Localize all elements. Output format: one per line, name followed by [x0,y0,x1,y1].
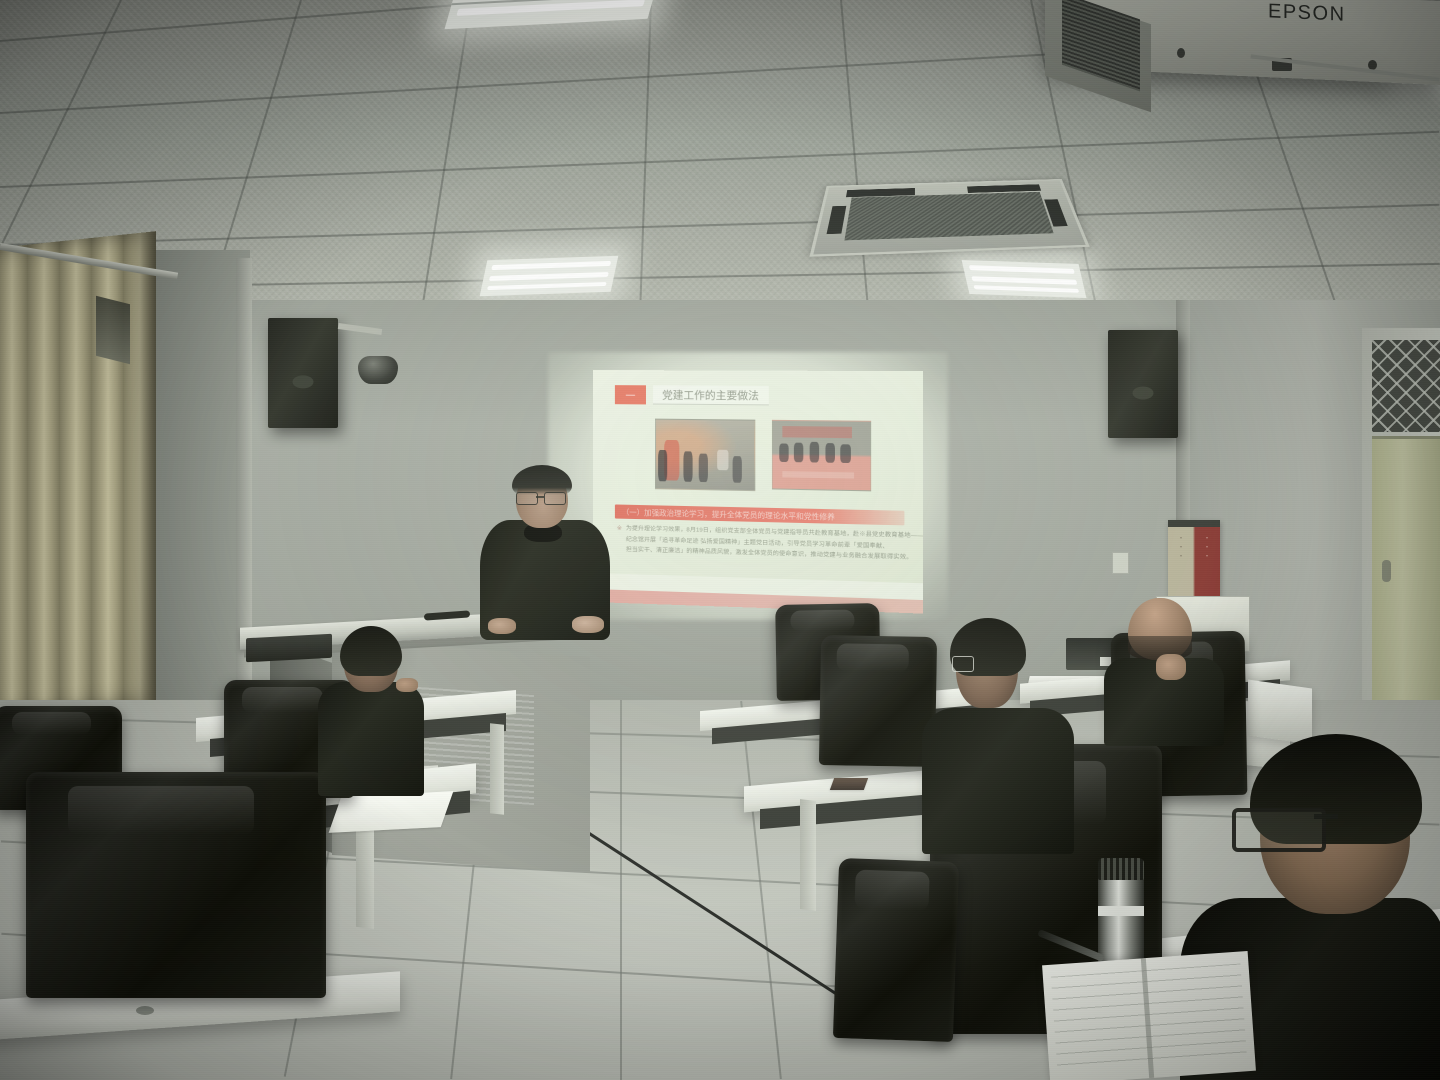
dome-security-camera [358,356,398,384]
presenter-right-hand [572,616,604,633]
floor-grout-line [740,701,782,1079]
black-office-chair[interactable] [833,858,959,1042]
wall-speaker-right [1108,330,1178,438]
black-office-chair[interactable] [819,635,937,767]
exit-door[interactable] [1372,436,1440,733]
presenter-glasses [516,492,568,504]
presenter-hair [512,465,572,495]
black-office-chair[interactable] [26,772,326,998]
thermos-label-band [1098,906,1144,916]
presenter-left-hand [488,618,516,634]
slide-section-number: 一 [615,385,646,404]
ceiling-light-panel [480,256,619,297]
attendee-hand [396,678,418,692]
projector-brand-label: EPSON [1268,0,1346,27]
attendee-glasses-bridge [1314,814,1338,819]
window-curtain [0,231,156,718]
desk-leg [356,817,374,930]
slide-title-bar: 一 党建工作的主要做法 [615,385,768,405]
attendee-glasses [1232,808,1326,852]
attendee-glasses [952,656,974,672]
projector-screw [1177,48,1185,58]
attendee-hair [340,626,402,676]
attendee-back-right [1104,596,1224,746]
desk-side-panel [1248,680,1312,745]
wall-hanging-scroll: ・・・ ・・・ [1168,520,1220,598]
wall-speaker-left [268,318,338,428]
open-notebook [1042,951,1256,1080]
ceiling-cassette-air-conditioner [809,179,1089,257]
light-switch[interactable] [1112,552,1129,574]
slide-bullet-marker: ※ [617,525,622,557]
presenter-at-podium [480,468,610,638]
slide-body-text: ※ 为提升理论学习效果，8月19日，组织党支部全体党员与党建指导员共赴教育基地，… [617,525,903,565]
curtain-bracket [96,296,130,364]
thermos-cap [1098,858,1144,880]
desk-leg [490,723,504,814]
attendee-torso [318,682,424,796]
slide-photo-group-ceremony [655,419,755,492]
desk-grommet [136,1006,154,1015]
slide-title: 党建工作的主要做法 [653,385,768,405]
door-transom-window [1372,340,1440,432]
door-handle[interactable] [1382,560,1391,582]
slide-photo-row [655,419,905,492]
window-lattice-grille [1372,340,1440,432]
slide-photo-red-banner [772,420,871,492]
meeting-room-photo: EPSON ・・・ ・・・ 一 党建工作的主要做法 [0,0,1440,1080]
floor-grout-line [620,700,622,1080]
attendee-hand [1156,654,1186,680]
attendee-front-left [318,620,424,796]
ceiling-light-panel [962,260,1087,298]
desk-leg [800,799,816,911]
photo-banner-text [783,426,853,438]
attendee-mid-right [922,612,1074,852]
projected-slide: 一 党建工作的主要做法 [593,370,923,614]
attendee-torso [922,708,1074,854]
slide-red-banner: （一）加强政治理论学习，提升全体党员的理论水平和党性修养 [615,504,905,525]
small-object-on-desk [830,778,868,790]
